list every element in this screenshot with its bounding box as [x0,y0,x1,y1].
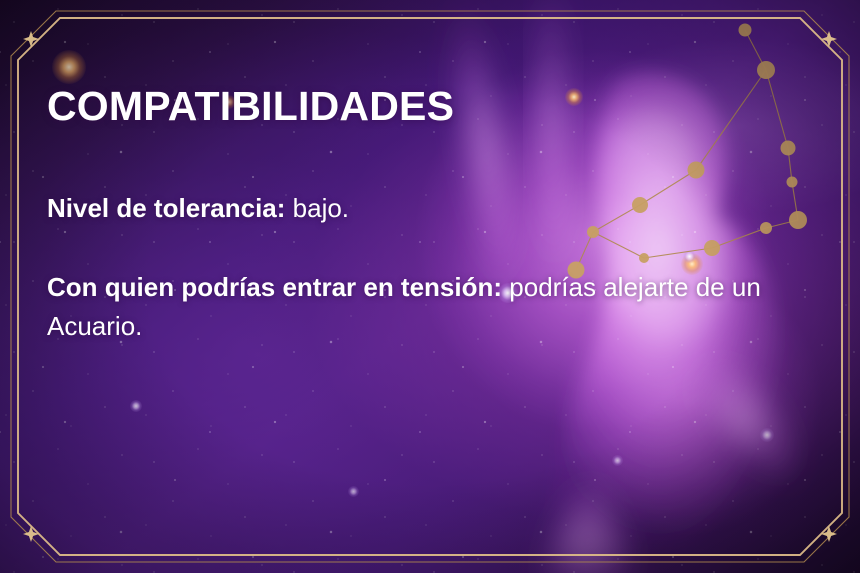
tolerance-label: Nivel de tolerancia: [47,193,285,223]
accent-star [348,486,359,497]
accent-star [52,50,86,84]
compatibility-details: Nivel de tolerancia: bajo. Con quien pod… [47,189,800,346]
accent-star [760,428,774,442]
horoscope-compatibility-card: COMPATIBILIDADES Nivel de tolerancia: ba… [0,0,860,573]
tolerance-value: bajo. [285,193,349,223]
tension-label: Con quien podrías entrar en tensión: [47,272,502,302]
tension-paragraph: Con quien podrías entrar en tensión: pod… [47,268,787,346]
card-content: COMPATIBILIDADES Nivel de tolerancia: ba… [47,86,800,346]
page-title: COMPATIBILIDADES [47,86,800,127]
accent-star [612,455,623,466]
accent-star [130,400,142,412]
tolerance-paragraph: Nivel de tolerancia: bajo. [47,189,787,228]
